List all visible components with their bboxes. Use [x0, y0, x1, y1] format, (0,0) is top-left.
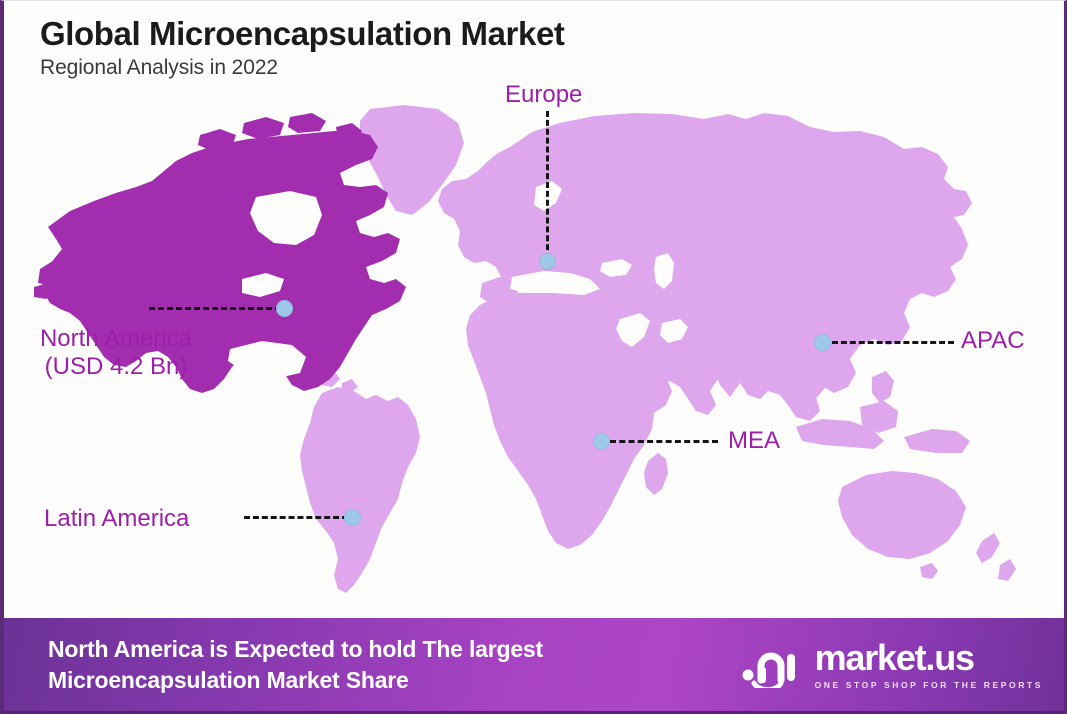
marker-north-america[interactable] — [276, 300, 293, 317]
footer-banner: North America is Expected to hold The la… — [4, 618, 1067, 714]
logo-wordmark: market.us — [815, 640, 974, 676]
banner-message: North America is Expected to hold The la… — [48, 634, 543, 695]
leader-line-mea — [610, 440, 718, 443]
label-north-america-text: North America — [40, 325, 192, 352]
header: Global Microencapsulation Market Regiona… — [40, 15, 564, 80]
market-us-logo-mark — [741, 642, 803, 688]
leader-line-europe — [546, 111, 549, 259]
leader-line-apac — [832, 341, 954, 344]
label-mea[interactable]: MEA — [728, 427, 780, 455]
label-europe-text: Europe — [505, 81, 582, 108]
label-latin-america[interactable]: Latin America — [44, 505, 189, 533]
banner-line-2: Microencapsulation Market Share — [48, 665, 543, 695]
leader-line-north-america — [149, 307, 281, 310]
marker-mea[interactable] — [593, 433, 610, 450]
label-europe[interactable]: Europe — [505, 81, 582, 109]
leader-line-latin-america — [244, 516, 348, 519]
label-north-america-value: (USD 4.2 Bn) — [16, 353, 216, 381]
label-north-america[interactable]: North America (USD 4.2 Bn) — [16, 325, 216, 382]
market-us-logo[interactable]: market.us ONE STOP SHOP FOR THE REPORTS — [741, 640, 1043, 690]
page-title: Global Microencapsulation Market — [40, 15, 564, 53]
logo-text: market.us ONE STOP SHOP FOR THE REPORTS — [815, 640, 1043, 690]
label-latin-america-text: Latin America — [44, 505, 189, 532]
label-mea-text: MEA — [728, 427, 780, 454]
marker-europe[interactable] — [539, 253, 556, 270]
label-apac-text: APAC — [961, 327, 1025, 354]
label-apac[interactable]: APAC — [961, 327, 1025, 355]
page-subtitle: Regional Analysis in 2022 — [40, 56, 564, 80]
infographic-root: Global Microencapsulation Market Regiona… — [0, 0, 1067, 714]
logo-tagline: ONE STOP SHOP FOR THE REPORTS — [815, 680, 1043, 690]
marker-apac[interactable] — [814, 334, 831, 351]
marker-latin-america[interactable] — [344, 509, 361, 526]
banner-line-1: North America is Expected to hold The la… — [48, 634, 543, 664]
